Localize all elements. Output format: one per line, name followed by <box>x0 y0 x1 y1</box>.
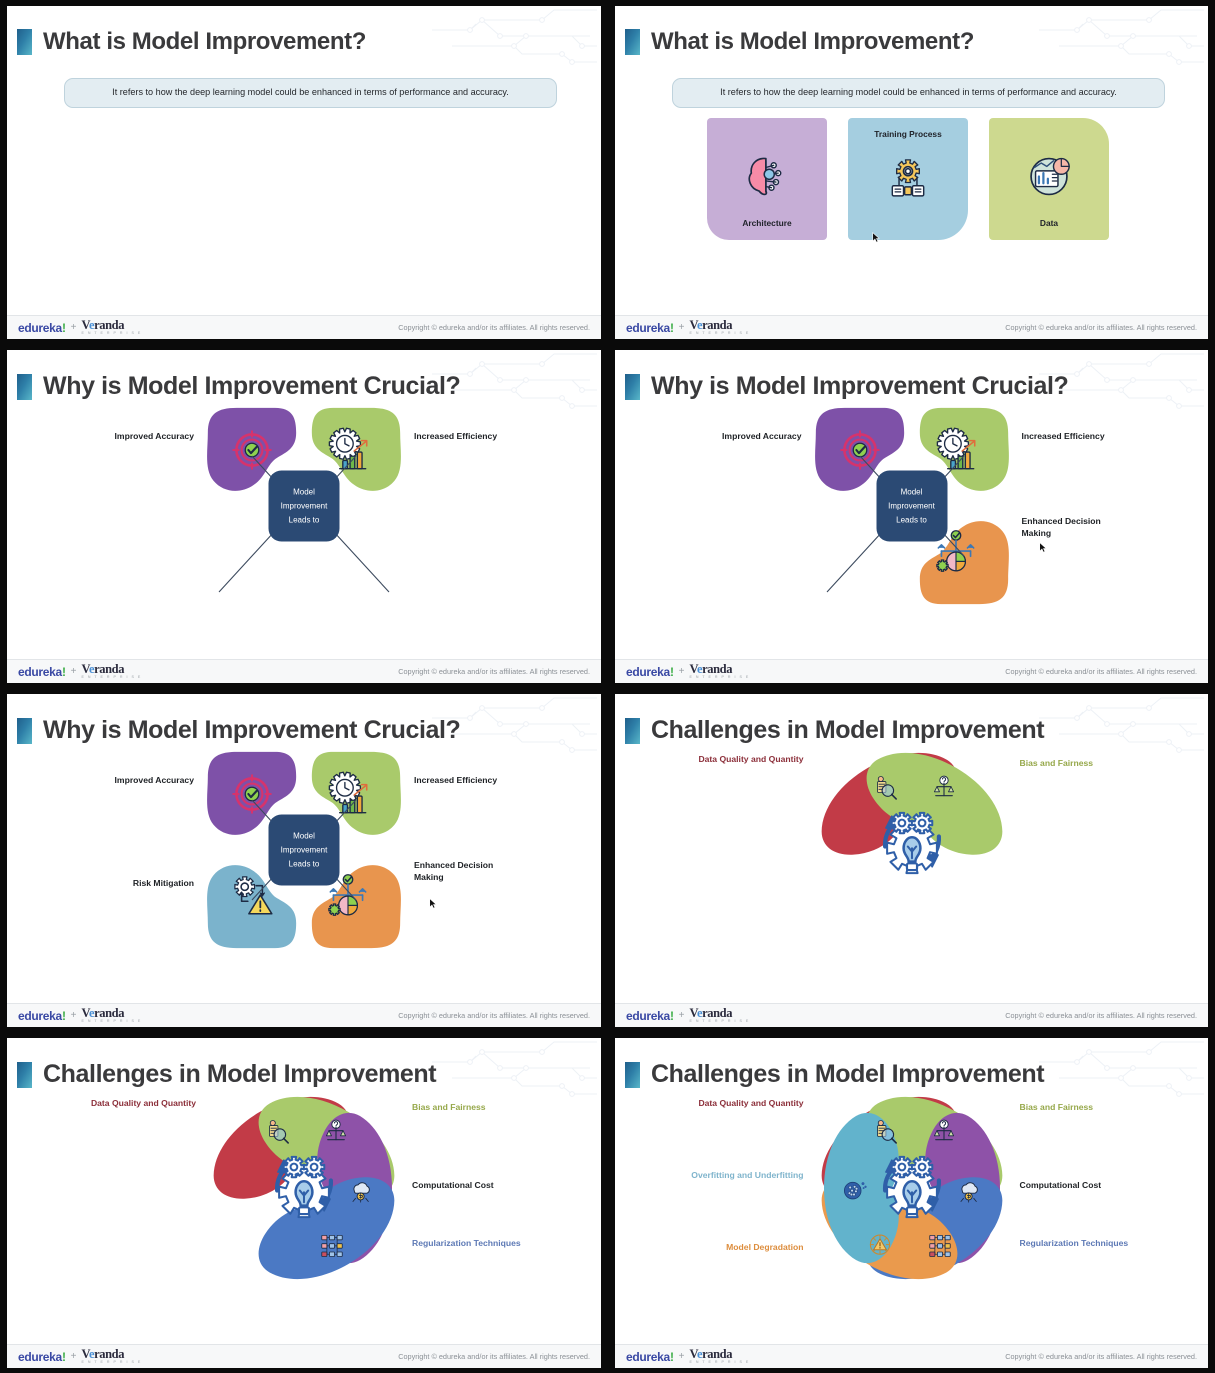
edureka-wordmark: edureka! <box>626 1350 674 1364</box>
veranda-tagline: E N T E R P R I S E <box>81 1020 141 1024</box>
warning-shield-icon <box>864 1228 896 1260</box>
brand-lockup: edureka!+VerandaE N T E R P R I S E <box>626 1007 750 1024</box>
lightbulb-gears-cycle-icon <box>262 1144 346 1228</box>
slide-header: Challenges in Model Improvement <box>625 716 1044 745</box>
blob-label: Enhanced Decision Making <box>1022 516 1132 539</box>
veranda-accent-letter: e <box>89 1006 94 1020</box>
slide-cell-why-crucial-2[interactable]: Why is Model Improvement Crucial?ModelIm… <box>608 344 1215 688</box>
veranda-accent-letter: e <box>89 1347 94 1361</box>
brand-plus-separator: + <box>679 322 685 333</box>
veranda-name: Veranda <box>81 663 141 676</box>
petal-label: Overfitting and Underfitting <box>674 1170 804 1182</box>
edureka-wordmark: edureka! <box>626 1009 674 1023</box>
veranda-name: Veranda <box>81 1348 141 1361</box>
petal-icon-network-nodes-icon <box>316 1228 348 1265</box>
wheel-center-icon <box>262 1144 346 1233</box>
veranda-tagline: E N T E R P R I S E <box>689 676 749 680</box>
center-node: ModelImprovementLeads to <box>269 471 340 542</box>
copyright-text: Copyright © edureka and/or its affiliate… <box>398 1352 590 1361</box>
center-node-line-0: Model <box>293 829 315 843</box>
veranda-wordmark: VerandaE N T E R P R I S E <box>81 1007 141 1024</box>
edureka-bang: ! <box>62 1009 66 1023</box>
brand-plus-separator: + <box>679 666 685 677</box>
edureka-bang: ! <box>670 1009 674 1023</box>
card-label: Architecture <box>707 218 827 228</box>
slide-cell-challenges-3[interactable]: Challenges in Model ImprovementData Qual… <box>608 1032 1215 1373</box>
slide-header: Challenges in Model Improvement <box>17 1060 436 1089</box>
slide-footer: edureka!+VerandaE N T E R P R I S ECopyr… <box>615 659 1208 683</box>
petal-icon-cloud-cost-icon <box>952 1174 984 1211</box>
page-title: Challenges in Model Improvement <box>651 1060 1044 1089</box>
veranda-accent-letter: e <box>697 318 702 332</box>
card-illustration <box>880 152 936 213</box>
veranda-accent-letter: e <box>697 1347 702 1361</box>
slide-cell-challenges-1[interactable]: Challenges in Model ImprovementData Qual… <box>608 688 1215 1032</box>
title-accent-marker <box>17 29 32 55</box>
copyright-text: Copyright © edureka and/or its affiliate… <box>1005 1011 1197 1020</box>
blob-label: Increased Efficiency <box>414 431 564 443</box>
page-title: Why is Model Improvement Crucial? <box>43 372 460 401</box>
edureka-bang: ! <box>62 321 66 335</box>
mouse-cursor <box>872 232 880 243</box>
brand-lockup: edureka!+VerandaE N T E R P R I S E <box>18 1348 142 1365</box>
petal-icon-network-nodes-icon <box>924 1228 956 1265</box>
blob-label: Improved Accuracy <box>652 431 802 443</box>
blob-label: Improved Accuracy <box>44 431 194 443</box>
title-accent-marker <box>625 1062 640 1088</box>
slide-header: Challenges in Model Improvement <box>625 1060 1044 1089</box>
card-illustration <box>739 149 795 210</box>
petal-label: Data Quality and Quantity <box>66 1098 196 1110</box>
brand-lockup: edureka!+VerandaE N T E R P R I S E <box>626 663 750 680</box>
wheel-cluster <box>204 1088 404 1288</box>
slide-header: Why is Model Improvement Crucial? <box>17 716 460 745</box>
blob-diagram: ModelImprovementLeads toImproved Accurac… <box>7 406 601 616</box>
gear-training-icon <box>880 152 936 208</box>
wheel-cluster <box>812 744 1012 944</box>
cloud-cost-icon <box>344 1174 376 1206</box>
slide-thumbnail-grid: What is Model Improvement?It refers to h… <box>0 0 1215 1373</box>
veranda-wordmark: VerandaE N T E R P R I S E <box>81 1348 141 1365</box>
blob-label: Improved Accuracy <box>44 775 194 787</box>
network-nodes-icon <box>316 1228 348 1260</box>
veranda-name: Veranda <box>689 1348 749 1361</box>
slide-header: Why is Model Improvement Crucial? <box>625 372 1068 401</box>
slide-footer: edureka!+VerandaE N T E R P R I S ECopyr… <box>7 315 601 339</box>
edureka-bang: ! <box>62 1350 66 1364</box>
page-title: Challenges in Model Improvement <box>43 1060 436 1089</box>
edureka-wordmark: edureka! <box>18 1350 66 1364</box>
card-row: ArchitectureTraining ProcessData <box>707 118 1109 240</box>
veranda-accent-letter: e <box>697 662 702 676</box>
slide-cell-why-crucial-3[interactable]: Why is Model Improvement Crucial?ModelIm… <box>0 688 608 1032</box>
page-title: What is Model Improvement? <box>651 28 974 56</box>
slide-header: What is Model Improvement? <box>625 28 974 56</box>
blob-diagram: ModelImprovementLeads toImproved Accurac… <box>615 406 1208 616</box>
lightbulb-gears-cycle-icon <box>870 800 954 884</box>
slide-why-crucial-1[interactable]: Why is Model Improvement Crucial?ModelIm… <box>7 350 601 683</box>
veranda-accent-letter: e <box>697 1006 702 1020</box>
petal-label: Model Degradation <box>674 1242 804 1254</box>
veranda-name: Veranda <box>81 319 141 332</box>
center-node-line-2: Leads to <box>289 513 320 527</box>
blob-label: Increased Efficiency <box>414 775 564 787</box>
blob-cluster: ModelImprovementLeads to <box>204 406 404 606</box>
center-node-line-1: Improvement <box>281 843 328 857</box>
edureka-wordmark: edureka! <box>18 1009 66 1023</box>
wheel-cluster <box>812 1088 1012 1288</box>
veranda-accent-letter: e <box>89 662 94 676</box>
lightbulb-gears-cycle-icon <box>870 1144 954 1228</box>
slide-what-is-model-improvement-2[interactable]: What is Model Improvement?It refers to h… <box>615 6 1208 339</box>
veranda-accent-letter: e <box>89 318 94 332</box>
edureka-bang: ! <box>670 665 674 679</box>
edureka-bang: ! <box>670 1350 674 1364</box>
data-dashboard-icon <box>1021 149 1077 205</box>
petal-icon-cloud-cost-icon <box>344 1174 376 1211</box>
slide-why-crucial-3[interactable]: Why is Model Improvement Crucial?ModelIm… <box>7 694 601 1027</box>
slide-challenges-1[interactable]: Challenges in Model ImprovementData Qual… <box>615 694 1208 1027</box>
brain-circuit-icon <box>739 149 795 205</box>
card-illustration <box>1021 149 1077 210</box>
petal-label: Computational Cost <box>412 1180 542 1192</box>
blob-diagram: ModelImprovementLeads toImproved Accurac… <box>7 750 601 960</box>
wheel-diagram: Data Quality and QuantityBias and Fairne… <box>7 1088 601 1303</box>
veranda-tagline: E N T E R P R I S E <box>689 1020 749 1024</box>
mouse-cursor <box>429 898 437 909</box>
petal-label: Data Quality and Quantity <box>674 754 804 766</box>
slide-header: What is Model Improvement? <box>17 28 366 56</box>
veranda-wordmark: VerandaE N T E R P R I S E <box>81 319 141 336</box>
blob-label: Enhanced Decision Making <box>414 860 524 883</box>
veranda-tagline: E N T E R P R I S E <box>689 332 749 336</box>
wheel-diagram: Data Quality and QuantityBias and Fairne… <box>615 744 1208 959</box>
edureka-wordmark: edureka! <box>626 321 674 335</box>
brand-plus-separator: + <box>71 1351 77 1362</box>
center-node-line-1: Improvement <box>281 499 328 513</box>
veranda-wordmark: VerandaE N T E R P R I S E <box>689 1007 749 1024</box>
slide-why-crucial-2[interactable]: Why is Model Improvement Crucial?ModelIm… <box>615 350 1208 683</box>
page-title: Challenges in Model Improvement <box>651 716 1044 745</box>
circuit-decoration <box>1029 8 1204 70</box>
edureka-bang: ! <box>670 321 674 335</box>
copyright-text: Copyright © edureka and/or its affiliate… <box>1005 1352 1197 1361</box>
title-accent-marker <box>625 718 640 744</box>
title-accent-marker <box>17 374 32 400</box>
wheel-center-icon <box>870 1144 954 1233</box>
veranda-tagline: E N T E R P R I S E <box>81 1361 141 1365</box>
brand-plus-separator: + <box>71 666 77 677</box>
copyright-text: Copyright © edureka and/or its affiliate… <box>1005 667 1197 676</box>
veranda-tagline: E N T E R P R I S E <box>689 1361 749 1365</box>
brand-lockup: edureka!+VerandaE N T E R P R I S E <box>626 319 750 336</box>
veranda-name: Veranda <box>689 1007 749 1020</box>
cloud-cost-icon <box>952 1174 984 1206</box>
center-node: ModelImprovementLeads to <box>269 815 340 886</box>
veranda-name: Veranda <box>689 663 749 676</box>
slide-footer: edureka!+VerandaE N T E R P R I S ECopyr… <box>7 659 601 683</box>
slide-cell-why-crucial-1[interactable]: Why is Model Improvement Crucial?ModelIm… <box>0 344 608 688</box>
wheel-center-icon <box>870 800 954 889</box>
edureka-bang: ! <box>62 665 66 679</box>
copyright-text: Copyright © edureka and/or its affiliate… <box>1005 323 1197 332</box>
brand-lockup: edureka!+VerandaE N T E R P R I S E <box>18 1007 142 1024</box>
wheel-diagram: Data Quality and QuantityBias and Fairne… <box>615 1088 1208 1303</box>
brand-lockup: edureka!+VerandaE N T E R P R I S E <box>626 1348 750 1365</box>
petal-label: Bias and Fairness <box>1020 1102 1150 1114</box>
brand-plus-separator: + <box>71 1010 77 1021</box>
center-node-line-2: Leads to <box>896 513 927 527</box>
center-node-line-1: Improvement <box>888 499 935 513</box>
page-title: Why is Model Improvement Crucial? <box>651 372 1068 401</box>
definition-callout: It refers to how the deep learning model… <box>672 78 1165 108</box>
copyright-text: Copyright © edureka and/or its affiliate… <box>398 667 590 676</box>
slide-cell-what-is-model-improvement-2[interactable]: What is Model Improvement?It refers to h… <box>608 0 1215 344</box>
slide-what-is-model-improvement-1[interactable]: What is Model Improvement?It refers to h… <box>7 6 601 339</box>
slide-cell-what-is-model-improvement-1[interactable]: What is Model Improvement?It refers to h… <box>0 0 608 344</box>
edureka-wordmark: edureka! <box>18 665 66 679</box>
card-training-process[interactable]: Training Process <box>848 118 968 240</box>
veranda-tagline: E N T E R P R I S E <box>81 676 141 680</box>
petal-label: Bias and Fairness <box>412 1102 542 1114</box>
center-node-line-0: Model <box>901 485 923 499</box>
petal-label: Regularization Techniques <box>1020 1238 1150 1250</box>
page-title: What is Model Improvement? <box>43 28 366 56</box>
card-label: Data <box>989 218 1109 228</box>
brand-lockup: edureka!+VerandaE N T E R P R I S E <box>18 663 142 680</box>
veranda-wordmark: VerandaE N T E R P R I S E <box>689 319 749 336</box>
brand-lockup: edureka!+VerandaE N T E R P R I S E <box>18 319 142 336</box>
blob-cluster: ModelImprovementLeads to <box>204 750 404 950</box>
definition-callout: It refers to how the deep learning model… <box>64 78 557 108</box>
petal-icon-scatter-dots-icon <box>838 1174 870 1211</box>
petal-label: Data Quality and Quantity <box>674 1098 804 1110</box>
veranda-wordmark: VerandaE N T E R P R I S E <box>81 663 141 680</box>
slide-challenges-2[interactable]: Challenges in Model ImprovementData Qual… <box>7 1038 601 1368</box>
center-node-line-2: Leads to <box>289 857 320 871</box>
title-accent-marker <box>625 29 640 55</box>
petal-label: Computational Cost <box>1020 1180 1150 1192</box>
slide-cell-challenges-2[interactable]: Challenges in Model ImprovementData Qual… <box>0 1032 608 1373</box>
slide-footer: edureka!+VerandaE N T E R P R I S ECopyr… <box>615 1344 1208 1368</box>
veranda-tagline: E N T E R P R I S E <box>81 332 141 336</box>
blob-label: Increased Efficiency <box>1022 431 1172 443</box>
title-accent-marker <box>17 1062 32 1088</box>
card-architecture[interactable]: Architecture <box>707 118 827 240</box>
brand-plus-separator: + <box>679 1010 685 1021</box>
petal-label: Bias and Fairness <box>1020 758 1150 770</box>
page-title: Why is Model Improvement Crucial? <box>43 716 460 745</box>
slide-footer: edureka!+VerandaE N T E R P R I S ECopyr… <box>615 1003 1208 1027</box>
slide-footer: edureka!+VerandaE N T E R P R I S ECopyr… <box>7 1344 601 1368</box>
slide-footer: edureka!+VerandaE N T E R P R I S ECopyr… <box>7 1003 601 1027</box>
veranda-wordmark: VerandaE N T E R P R I S E <box>689 1348 749 1365</box>
center-node: ModelImprovementLeads to <box>876 471 947 542</box>
veranda-name: Veranda <box>81 1007 141 1020</box>
petal-label: Regularization Techniques <box>412 1238 542 1250</box>
card-label: Training Process <box>848 129 968 139</box>
copyright-text: Copyright © edureka and/or its affiliate… <box>398 1011 590 1020</box>
blob-cluster: ModelImprovementLeads to <box>812 406 1012 606</box>
slide-header: Why is Model Improvement Crucial? <box>17 372 460 401</box>
brand-plus-separator: + <box>71 322 77 333</box>
blob-label: Risk Mitigation <box>44 878 194 890</box>
title-accent-marker <box>625 374 640 400</box>
brand-plus-separator: + <box>679 1351 685 1362</box>
mouse-cursor <box>1039 542 1047 553</box>
petal-icon-warning-shield-icon <box>864 1228 896 1265</box>
card-data[interactable]: Data <box>989 118 1109 240</box>
edureka-wordmark: edureka! <box>626 665 674 679</box>
network-nodes-icon <box>924 1228 956 1260</box>
copyright-text: Copyright © edureka and/or its affiliate… <box>398 323 590 332</box>
veranda-wordmark: VerandaE N T E R P R I S E <box>689 663 749 680</box>
slide-challenges-3[interactable]: Challenges in Model ImprovementData Qual… <box>615 1038 1208 1368</box>
circuit-decoration <box>422 8 597 70</box>
title-accent-marker <box>17 718 32 744</box>
veranda-name: Veranda <box>689 319 749 332</box>
edureka-wordmark: edureka! <box>18 321 66 335</box>
scatter-dots-icon <box>838 1174 870 1206</box>
slide-footer: edureka!+VerandaE N T E R P R I S ECopyr… <box>615 315 1208 339</box>
center-node-line-0: Model <box>293 485 315 499</box>
